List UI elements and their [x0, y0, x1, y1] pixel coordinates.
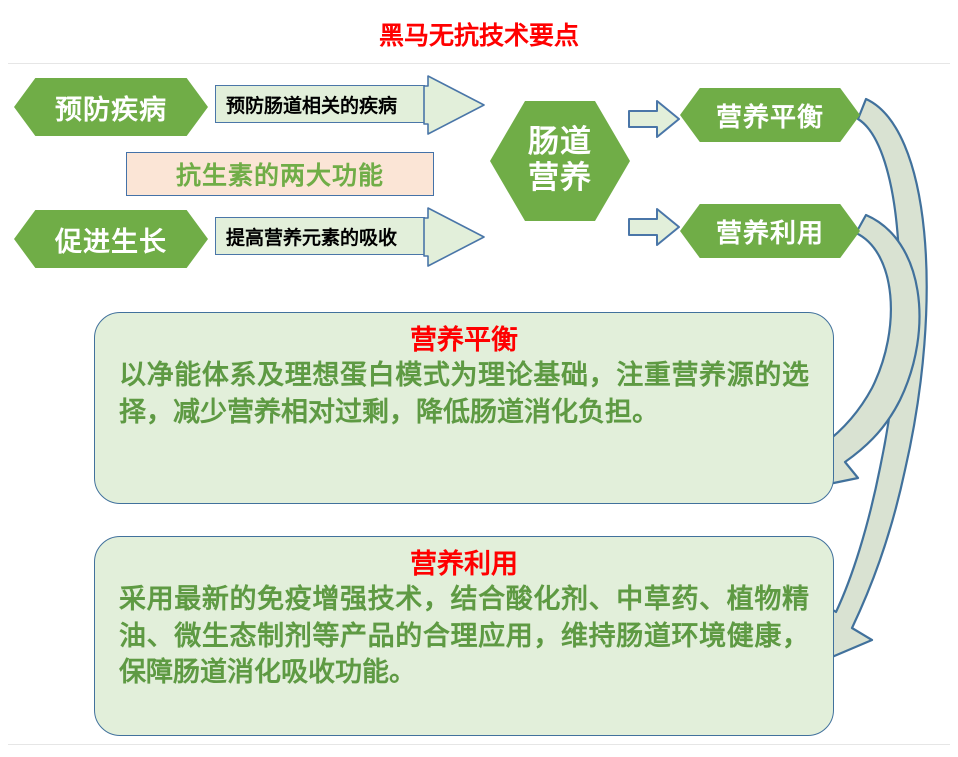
highlight-two-functions-of-antibiotics[interactable]: 抗生素的两大功能 — [126, 152, 434, 196]
highlight-label: 抗生素的两大功能 — [176, 156, 384, 192]
arrow-head-icon — [424, 218, 486, 256]
hexagon-prevent-disease-label: 预防疾病 — [55, 88, 167, 127]
callout-improve-nutrient-absorption[interactable]: 提高营养元素的吸收 — [215, 217, 425, 255]
detail-box-nutrition-balance: 营养平衡 以净能体系及理想蛋白模式为理论基础，注重营养源的选择，减少营养相对过剩… — [94, 312, 834, 504]
hexagon-prevent-disease[interactable]: 预防疾病 — [14, 78, 208, 136]
callout-prevent-intestinal-disease[interactable]: 预防肠道相关的疾病 — [215, 85, 425, 123]
bottom-divider — [8, 744, 950, 745]
right-arrow-icon-bottom — [627, 207, 681, 247]
hexagon-gut-nutrition-line1: 肠道 — [528, 125, 592, 161]
callout-prevent-label: 预防肠道相关的疾病 — [216, 91, 397, 118]
right-arrow-icon-top — [627, 99, 681, 139]
hexagon-nutrition-balance[interactable]: 营养平衡 — [680, 88, 860, 142]
detail-usage-body: 采用最新的免疫增强技术，结合酸化剂、中草药、植物精油、微生态制剂等产品的合理应用… — [119, 582, 809, 692]
detail-balance-body: 以净能体系及理想蛋白模式为理论基础，注重营养源的选择，减少营养相对过剩，降低肠道… — [119, 358, 809, 431]
top-divider — [8, 63, 950, 64]
detail-balance-heading: 营养平衡 — [119, 325, 809, 356]
detail-usage-heading: 营养利用 — [119, 549, 809, 580]
hexagon-nutrition-balance-label: 营养平衡 — [716, 97, 824, 134]
hexagon-gut-nutrition-line2: 营养 — [528, 161, 592, 197]
arrow-head-icon — [424, 86, 486, 124]
hexagon-nutrition-usage-label: 营养利用 — [716, 213, 824, 250]
hexagon-nutrition-usage[interactable]: 营养利用 — [680, 204, 860, 258]
detail-box-nutrition-usage: 营养利用 采用最新的免疫增强技术，结合酸化剂、中草药、植物精油、微生态制剂等产品… — [94, 536, 834, 736]
slide-canvas: 黑马无抗技术要点 预防疾病 促进生长 预防肠道相关的疾病 提高营养元素的吸收 抗… — [0, 0, 958, 757]
hexagon-gut-nutrition[interactable]: 肠道 营养 — [490, 101, 630, 221]
callout-absorb-label: 提高营养元素的吸收 — [216, 223, 397, 250]
hexagon-promote-growth[interactable]: 促进生长 — [14, 210, 208, 268]
hexagon-promote-growth-label: 促进生长 — [55, 220, 167, 259]
page-title: 黑马无抗技术要点 — [0, 22, 958, 50]
